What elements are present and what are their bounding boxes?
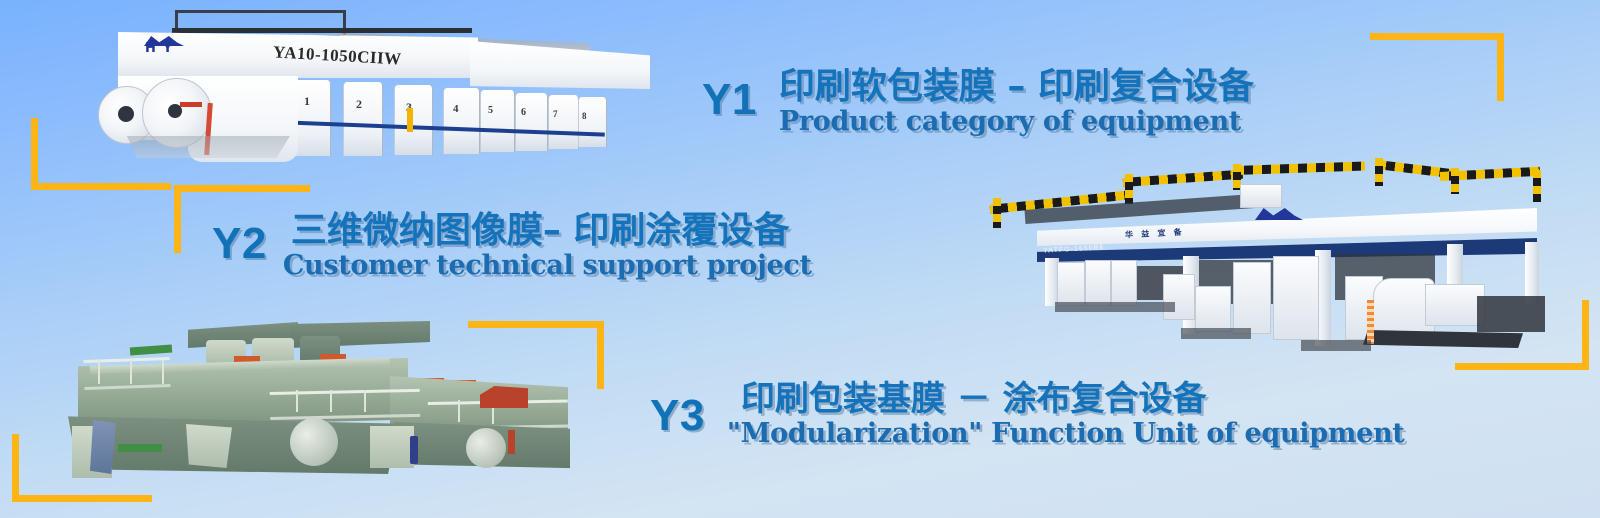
press-unit xyxy=(343,82,383,156)
entry-y2-code: Y2 xyxy=(212,222,267,266)
process-unit xyxy=(1233,262,1271,334)
press-red-handle xyxy=(180,102,202,107)
entry-y1-title-cn: 印刷软包装膜 – 印刷复合设备 xyxy=(779,68,1254,106)
bracket-y2-vertical xyxy=(174,185,181,253)
entry-y3-code: Y3 xyxy=(650,394,705,438)
press-base-shadow xyxy=(120,136,290,158)
press-unit xyxy=(443,88,480,154)
bracket-y2-horizontal xyxy=(174,185,310,192)
entry-y2-texts: 三维微纳图像膜– 印刷涂覆设备 Customer technical suppo… xyxy=(291,212,812,280)
entry-y1-title-en: Product category of equipment xyxy=(779,108,1254,136)
machine-photo-coating-laminating-line: 华 益 宜 备 YATFG-1650BⅡ xyxy=(985,150,1545,365)
press-unit xyxy=(515,93,548,151)
press-unit-number: 8 xyxy=(582,111,587,121)
entry-y3-texts: 印刷包装基膜 － 涂布复合设备 "Modularization" Functio… xyxy=(727,382,1405,448)
machine-side-panel xyxy=(186,424,232,468)
safety-railing-post xyxy=(1451,168,1459,194)
railing-post xyxy=(458,400,460,422)
green-web xyxy=(130,345,172,356)
green-web xyxy=(118,444,162,452)
bracket-y3-horizontal xyxy=(468,321,604,328)
press-hood-extension xyxy=(470,41,650,89)
entry-y1: Y1 印刷软包装膜 – 印刷复合设备 Product category of e… xyxy=(702,68,1254,136)
safety-railing xyxy=(1123,170,1243,187)
bracket-top-right-vertical xyxy=(1497,33,1504,101)
railing-post xyxy=(162,360,164,384)
machine-floor-shadow xyxy=(1055,302,1175,312)
railing-post xyxy=(130,360,132,384)
entry-y2-title-en: Customer technical support project xyxy=(283,252,812,280)
process-unit xyxy=(1195,286,1231,332)
bracket-bottom-left-vertical xyxy=(12,434,19,502)
railing-post xyxy=(98,360,100,384)
process-unit xyxy=(1057,262,1085,306)
paper-roll xyxy=(466,428,506,468)
safety-railing xyxy=(1235,161,1365,175)
paper-roll xyxy=(290,418,338,466)
press-unit-number: 1 xyxy=(304,94,310,109)
walkway-railing xyxy=(83,357,170,390)
press-unit-number: 5 xyxy=(488,105,493,116)
entry-y3: Y3 印刷包装基膜 － 涂布复合设备 "Modularization" Func… xyxy=(650,382,1404,448)
entry-y2-title-cn: 三维微纳图像膜– 印刷涂覆设备 xyxy=(291,212,812,250)
machine-side-panel xyxy=(370,426,414,468)
rewinder-unit xyxy=(1425,284,1485,326)
machine-base-frame xyxy=(1363,330,1523,348)
process-unit xyxy=(1111,260,1137,306)
safety-railing-post xyxy=(1533,170,1541,202)
press-unit-number: 4 xyxy=(453,103,459,115)
machine-photo-rotogravure-press: HY YA10-1050CIIW 1 2 3 4 5 6 7 8 xyxy=(60,8,605,173)
entry-y3-title-en: "Modularization" Function Unit of equipm… xyxy=(727,420,1405,448)
press-unit xyxy=(578,97,607,147)
bracket-y3-vertical xyxy=(597,321,604,389)
bracket-top-right-horizontal xyxy=(1370,33,1504,40)
press-unit-number: 2 xyxy=(356,97,362,112)
operator-figure xyxy=(410,436,418,464)
press-unit xyxy=(548,95,579,149)
press-unwind-hub xyxy=(118,106,134,122)
safety-railing-post xyxy=(1375,158,1383,186)
entry-y1-texts: 印刷软包装膜 – 印刷复合设备 Product category of equi… xyxy=(779,68,1254,136)
bracket-y1-horizontal xyxy=(31,183,171,190)
support-column xyxy=(1525,242,1539,304)
operator-figure xyxy=(508,430,515,454)
safety-railing-post xyxy=(1125,174,1133,204)
process-unit xyxy=(1163,274,1195,320)
upper-platform-box xyxy=(1240,184,1282,208)
railing-post xyxy=(296,390,298,412)
product-category-banner: HY YA10-1050CIIW 1 2 3 4 5 6 7 8 xyxy=(0,0,1600,518)
press-unit xyxy=(480,90,515,152)
bracket-bottom-right-horizontal xyxy=(1455,363,1589,370)
bracket-y1-vertical xyxy=(31,118,38,190)
entry-y3-title-cn: 印刷包装基膜 － 涂布复合设备 xyxy=(741,382,1405,418)
coating-line-logo-wing xyxy=(1255,208,1303,220)
process-unit xyxy=(1085,260,1111,306)
press-roof-bar xyxy=(172,28,472,33)
machine-base-frame xyxy=(1477,296,1545,332)
railing-post xyxy=(364,390,366,412)
bracket-bottom-right-vertical xyxy=(1582,300,1589,370)
process-unit xyxy=(1273,256,1319,340)
walkway-railing xyxy=(270,389,421,420)
machine-floor-shadow xyxy=(1181,328,1251,339)
press-unit xyxy=(394,85,433,155)
railing-post xyxy=(330,390,332,412)
cable-hose xyxy=(1367,300,1374,344)
entry-y1-code: Y1 xyxy=(702,78,757,122)
bracket-bottom-left-horizontal xyxy=(12,495,152,502)
machine-floor-shadow xyxy=(1301,340,1371,351)
press-unit-yellow-marker xyxy=(407,108,413,132)
entry-y2: Y2 三维微纳图像膜– 印刷涂覆设备 Customer technical su… xyxy=(212,212,812,280)
safety-railing-post xyxy=(993,198,1001,228)
press-unit-number: 6 xyxy=(521,107,526,118)
machine-photo-paper-coating-machine xyxy=(38,318,568,488)
press-unit-number: 7 xyxy=(553,109,558,119)
